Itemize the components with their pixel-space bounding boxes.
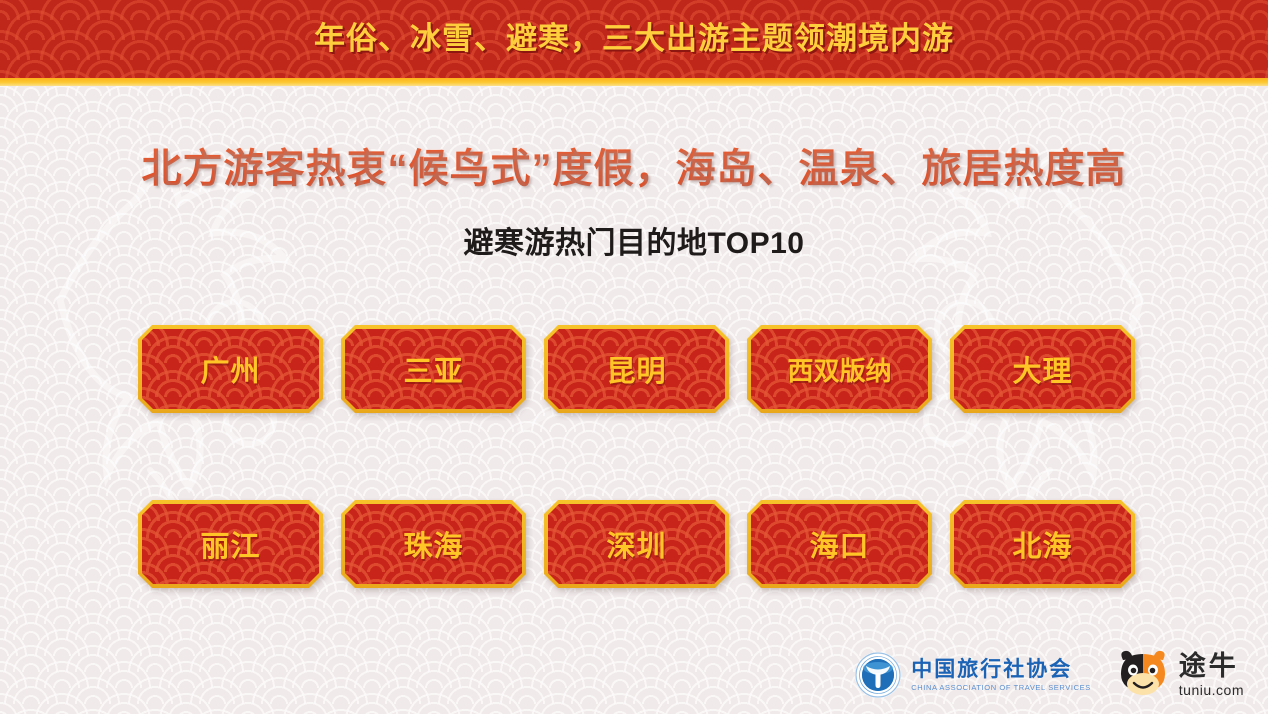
cats-logo-text: 中国旅行社协会 CHINA ASSOCIATION OF TRAVEL SERV… xyxy=(911,659,1091,692)
cats-globe-emblem-icon xyxy=(854,651,902,699)
cats-name-cn: 中国旅行社协会 xyxy=(911,659,1091,680)
tuniu-name-cn: 途牛 xyxy=(1179,653,1244,680)
footer-logos: 中国旅行社协会 CHINA ASSOCIATION OF TRAVEL SERV… xyxy=(854,650,1244,700)
destination-plaque[interactable]: 昆明 xyxy=(544,325,729,413)
destination-label: 大理 xyxy=(950,325,1135,413)
destination-plaque[interactable]: 珠海 xyxy=(341,500,526,588)
cats-logo: 中国旅行社协会 CHINA ASSOCIATION OF TRAVEL SERV… xyxy=(854,651,1091,699)
destination-plaque[interactable]: 北海 xyxy=(950,500,1135,588)
destination-label: 海口 xyxy=(747,500,932,588)
destination-label: 昆明 xyxy=(544,325,729,413)
destination-label: 三亚 xyxy=(341,325,526,413)
destination-plaque[interactable]: 大理 xyxy=(950,325,1135,413)
tuniu-logo-text: 途牛 tuniu.com xyxy=(1179,653,1244,697)
destination-label: 西双版纳 xyxy=(747,325,932,413)
tuniu-cow-mascot-icon xyxy=(1115,650,1171,700)
destination-plaque[interactable]: 深圳 xyxy=(544,500,729,588)
tuniu-logo: 途牛 tuniu.com xyxy=(1115,650,1244,700)
destination-label: 北海 xyxy=(950,500,1135,588)
destination-plaque[interactable]: 丽江 xyxy=(138,500,323,588)
destination-plaque[interactable]: 广州 xyxy=(138,325,323,413)
destination-label: 深圳 xyxy=(544,500,729,588)
destination-row-1: 广州 三亚 昆明 西双版纳 大理 xyxy=(138,325,1135,413)
destination-list: 广州 三亚 昆明 西双版纳 大理 丽江 xyxy=(0,0,1268,714)
tuniu-name-en: tuniu.com xyxy=(1179,683,1244,697)
destination-label: 珠海 xyxy=(341,500,526,588)
destination-label: 丽江 xyxy=(138,500,323,588)
destination-label: 广州 xyxy=(138,325,323,413)
destination-plaque[interactable]: 海口 xyxy=(747,500,932,588)
destination-plaque[interactable]: 三亚 xyxy=(341,325,526,413)
cats-name-en: CHINA ASSOCIATION OF TRAVEL SERVICES xyxy=(911,684,1091,692)
destination-plaque[interactable]: 西双版纳 xyxy=(747,325,932,413)
destination-row-2: 丽江 珠海 深圳 海口 北海 xyxy=(138,500,1135,588)
